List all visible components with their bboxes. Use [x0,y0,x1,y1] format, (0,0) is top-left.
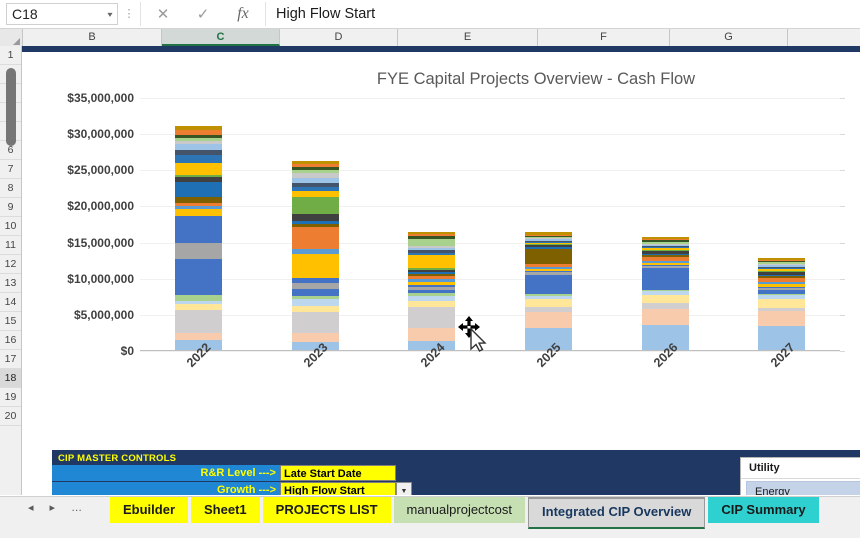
row-header-14[interactable]: 14 [0,293,21,312]
confirm-icon[interactable]: ✓ [183,5,223,23]
chart-title: FYE Capital Projects Overview - Cash Flo… [22,70,860,89]
bar-segment [525,275,572,295]
sheet-nav-buttons: ◂ ▸ … [28,501,82,514]
row-header-19[interactable]: 19 [0,388,21,407]
row-header-13[interactable]: 13 [0,274,21,293]
bar-segment [408,328,455,341]
chart-bar-2027[interactable] [758,258,805,350]
bar-segment [175,216,222,242]
vertical-scrollbar-thumb[interactable] [6,68,16,146]
bar-segment [758,311,805,326]
cip-control-label: R&R Level ---> [52,465,280,481]
bar-segment [175,155,222,163]
gridline [140,170,840,171]
row-header-10[interactable]: 10 [0,217,21,236]
cip-control-value[interactable]: Late Start Date [280,465,396,481]
formula-bar: C18 ▾ ⋮ ✕ ✓ fx High Flow Start [0,0,860,29]
nav-first-icon[interactable]: ◂ [28,501,34,514]
bar-segment [292,312,339,333]
bar-segment [292,254,339,279]
nav-more-icon[interactable]: … [71,502,82,514]
column-header-f[interactable]: F [538,29,670,46]
sheet-tab-integrated-cip-overview[interactable]: Integrated CIP Overview [528,497,705,529]
excel-window: C18 ▾ ⋮ ✕ ✓ fx High Flow Start BCDEFG 12… [0,0,860,538]
nav-next-icon[interactable]: ▸ [50,501,56,514]
y-axis-tick [840,98,845,99]
cip-panel-title: CIP MASTER CONTROLS [58,453,176,464]
slicer-header: Utility [741,458,860,479]
chart-bar-2026[interactable] [642,237,689,350]
formula-bar-buttons: ✕ ✓ fx [140,2,266,26]
bar-segment [408,255,455,268]
slicer-item-energy[interactable]: Energy [746,481,860,495]
bar-segment [175,209,222,216]
y-axis-tick [840,134,845,135]
bar-segment [175,163,222,175]
row-header-9[interactable]: 9 [0,198,21,217]
sheet-tab-bar: ◂ ▸ … EbuilderSheet1PROJECTS LISTmanualp… [0,496,860,538]
select-all-corner[interactable] [0,29,23,46]
chart-bar-2024[interactable] [408,232,455,350]
bar-segment [175,259,222,295]
bar-segment [642,309,689,325]
y-axis-tick [840,279,845,280]
row-header-1[interactable]: 1 [0,46,21,65]
formula-bar-grip-icon[interactable]: ⋮ [118,10,140,19]
bar-segment [175,333,222,340]
y-axis-label: $35,000,000 [22,91,134,105]
bar-segment [525,312,572,327]
row-header-16[interactable]: 16 [0,331,21,350]
name-box-value: C18 [12,6,38,22]
column-header-c[interactable]: C [162,29,280,46]
utility-slicer[interactable]: Utility EnergyReuseStormwater [740,457,860,495]
gridline [140,315,840,316]
worksheet-area: FYE Capital Projects Overview - Cash Flo… [22,46,860,495]
y-axis-label: $5,000,000 [22,308,134,322]
sheet-tab-ebuilder[interactable]: Ebuilder [110,497,188,523]
row-header-18[interactable]: 18 [0,369,21,388]
bar-segment [525,249,572,265]
cip-control-row: R&R Level --->Late Start Date [52,465,396,481]
column-header-d[interactable]: D [280,29,398,46]
bar-segment [292,333,339,342]
dropdown-arrow-icon[interactable]: ▼ [396,482,412,495]
chart-bar-2023[interactable] [292,161,339,350]
bar-segment [175,243,222,259]
bar-segment [292,214,339,221]
column-header-b[interactable]: B [23,29,162,46]
y-axis-label: $15,000,000 [22,236,134,250]
y-axis-label: $25,000,000 [22,163,134,177]
chart-plot-area: $0$5,000,000$10,000,000$15,000,000$20,00… [140,98,840,351]
sheet-tabs: EbuilderSheet1PROJECTS LISTmanualproject… [110,497,822,529]
y-axis-tick [840,315,845,316]
y-axis-label: $0 [22,344,134,358]
bar-segment [175,310,222,332]
column-header-g[interactable]: G [670,29,788,46]
cip-control-row: Growth --->High Flow Start▼ [52,482,412,495]
bar-segment [292,197,339,214]
row-header-15[interactable]: 15 [0,312,21,331]
cip-master-controls: CIP MASTER CONTROLS R&R Level --->Late S… [52,450,860,495]
name-box[interactable]: C18 ▾ [6,3,118,25]
gridline [140,134,840,135]
cip-control-value[interactable]: High Flow Start [280,482,396,495]
sheet-tab-projects-list[interactable]: PROJECTS LIST [263,497,391,523]
sheet-tab-sheet1[interactable]: Sheet1 [191,497,260,523]
row-header-11[interactable]: 11 [0,236,21,255]
chart-bar-2022[interactable] [175,126,222,350]
formula-input[interactable]: High Flow Start [266,2,860,26]
gridline [140,206,840,207]
bar-segment [408,307,455,328]
sheet-tab-manualprojectcost[interactable]: manualprojectcost [394,497,526,523]
row-header-20[interactable]: 20 [0,407,21,426]
bar-segment [642,268,689,290]
row-header-12[interactable]: 12 [0,255,21,274]
row-header-17[interactable]: 17 [0,350,21,369]
y-axis-label: $10,000,000 [22,272,134,286]
gridline [140,279,840,280]
bar-segment [525,299,572,307]
bar-segment [642,295,689,303]
chart-bar-2025[interactable] [525,232,572,350]
gridline [140,98,840,99]
bar-segment [175,182,222,197]
y-axis-tick [840,170,845,171]
row-headers: 1234567891011121314151617181920 [0,46,22,495]
y-axis-tick [840,206,845,207]
y-axis-tick [840,243,845,244]
chevron-down-icon[interactable]: ▾ [107,10,112,19]
insert-function-icon[interactable]: fx [223,5,263,23]
bar-segment [292,289,339,296]
cash-flow-chart[interactable]: FYE Capital Projects Overview - Cash Flo… [22,52,860,397]
column-header-e[interactable]: E [398,29,538,46]
sheet-tab-cip-summary[interactable]: CIP Summary [708,497,818,523]
gridline [140,351,840,352]
cancel-icon[interactable]: ✕ [143,5,183,23]
column-headers: BCDEFG [0,29,860,47]
gridline [140,243,840,244]
y-axis-label: $30,000,000 [22,127,134,141]
cip-control-label: Growth ---> [52,482,280,495]
row-header-8[interactable]: 8 [0,179,21,198]
bar-segment [292,227,339,249]
y-axis-tick [840,351,845,352]
y-axis-label: $20,000,000 [22,199,134,213]
bar-segment [758,299,805,308]
row-header-7[interactable]: 7 [0,160,21,179]
